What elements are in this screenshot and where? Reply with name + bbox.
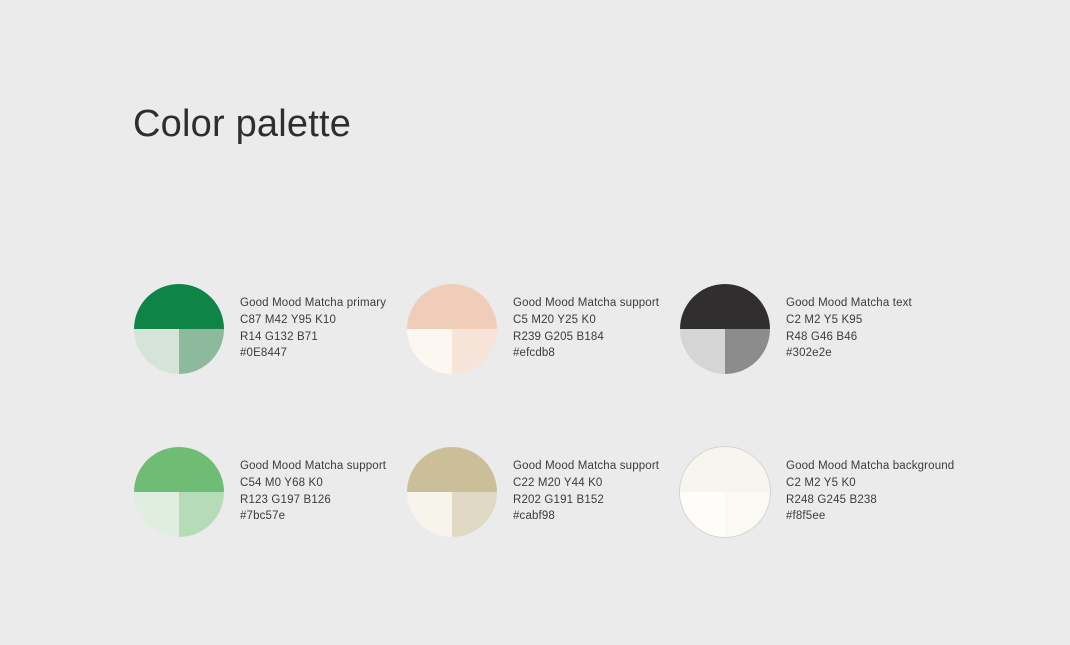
swatch-name: Good Mood Matcha primary xyxy=(240,295,386,312)
disc-bottom-left-quarter xyxy=(680,492,725,537)
swatch-hex: #0E8447 xyxy=(240,345,386,362)
disc-bottom-left-quarter xyxy=(134,492,179,537)
swatch-meta: Good Mood Matcha background C2 M2 Y5 K0 … xyxy=(786,446,954,525)
swatch-hex: #7bc57e xyxy=(240,508,386,525)
color-disc-wrap xyxy=(406,283,498,375)
swatch-item[interactable]: Good Mood Matcha primary C87 M42 Y95 K10… xyxy=(133,283,406,375)
disc-top-half xyxy=(680,447,770,492)
disc-top-half xyxy=(407,284,497,329)
swatch-rgb: R248 G245 B238 xyxy=(786,492,954,509)
color-palette-page: Color palette Good Mood Matcha primary C… xyxy=(0,0,1070,645)
disc-bottom-right-quarter xyxy=(179,329,224,374)
swatch-name: Good Mood Matcha background xyxy=(786,458,954,475)
swatch-item[interactable]: Good Mood Matcha support C22 M20 Y44 K0 … xyxy=(406,446,679,538)
disc-top-half xyxy=(407,447,497,492)
swatch-item[interactable]: Good Mood Matcha support C5 M20 Y25 K0 R… xyxy=(406,283,679,375)
disc-bottom-right-quarter xyxy=(725,329,770,374)
page-title: Color palette xyxy=(133,102,351,148)
color-disc-wrap xyxy=(133,446,225,538)
swatch-rgb: R123 G197 B126 xyxy=(240,492,386,509)
swatch-rgb: R202 G191 B152 xyxy=(513,492,659,509)
swatch-row: Good Mood Matcha primary C87 M42 Y95 K10… xyxy=(133,283,973,375)
swatch-hex: #efcdb8 xyxy=(513,345,659,362)
color-disc-wrap xyxy=(679,446,771,538)
color-disc-icon xyxy=(407,447,497,537)
swatch-name: Good Mood Matcha text xyxy=(786,295,912,312)
swatch-rgb: R14 G132 B71 xyxy=(240,329,386,346)
swatch-cmyk: C5 M20 Y25 K0 xyxy=(513,312,659,329)
disc-top-half xyxy=(134,447,224,492)
swatch-hex: #cabf98 xyxy=(513,508,659,525)
disc-bottom-left-quarter xyxy=(680,329,725,374)
color-disc-wrap xyxy=(679,283,771,375)
color-disc-icon xyxy=(679,446,771,538)
color-disc-icon xyxy=(134,447,224,537)
swatch-hex: #f8f5ee xyxy=(786,508,954,525)
disc-bottom-left-quarter xyxy=(407,492,452,537)
swatch-rgb: R239 G205 B184 xyxy=(513,329,659,346)
swatch-rgb: R48 G46 B46 xyxy=(786,329,912,346)
swatch-item[interactable]: Good Mood Matcha support C54 M0 Y68 K0 R… xyxy=(133,446,406,538)
swatch-grid: Good Mood Matcha primary C87 M42 Y95 K10… xyxy=(133,283,973,538)
swatch-row: Good Mood Matcha support C54 M0 Y68 K0 R… xyxy=(133,446,973,538)
swatch-name: Good Mood Matcha support xyxy=(513,458,659,475)
swatch-meta: Good Mood Matcha primary C87 M42 Y95 K10… xyxy=(240,283,386,362)
swatch-cmyk: C2 M2 Y5 K0 xyxy=(786,475,954,492)
color-disc-wrap xyxy=(406,446,498,538)
disc-bottom-left-quarter xyxy=(407,329,452,374)
disc-bottom-right-quarter xyxy=(452,492,497,537)
swatch-hex: #302e2e xyxy=(786,345,912,362)
color-disc-wrap xyxy=(133,283,225,375)
disc-bottom-right-quarter xyxy=(452,329,497,374)
swatch-meta: Good Mood Matcha support C54 M0 Y68 K0 R… xyxy=(240,446,386,525)
swatch-cmyk: C22 M20 Y44 K0 xyxy=(513,475,659,492)
swatch-item[interactable]: Good Mood Matcha text C2 M2 Y5 K95 R48 G… xyxy=(679,283,952,375)
disc-bottom-right-quarter xyxy=(179,492,224,537)
color-disc-icon xyxy=(680,284,770,374)
swatch-meta: Good Mood Matcha support C22 M20 Y44 K0 … xyxy=(513,446,659,525)
disc-top-half xyxy=(680,284,770,329)
swatch-cmyk: C54 M0 Y68 K0 xyxy=(240,475,386,492)
disc-bottom-left-quarter xyxy=(134,329,179,374)
swatch-name: Good Mood Matcha support xyxy=(513,295,659,312)
swatch-meta: Good Mood Matcha text C2 M2 Y5 K95 R48 G… xyxy=(786,283,912,362)
swatch-item[interactable]: Good Mood Matcha background C2 M2 Y5 K0 … xyxy=(679,446,952,538)
swatch-cmyk: C2 M2 Y5 K95 xyxy=(786,312,912,329)
disc-bottom-right-quarter xyxy=(725,492,770,537)
color-disc-icon xyxy=(134,284,224,374)
disc-top-half xyxy=(134,284,224,329)
swatch-meta: Good Mood Matcha support C5 M20 Y25 K0 R… xyxy=(513,283,659,362)
color-disc-icon xyxy=(407,284,497,374)
swatch-name: Good Mood Matcha support xyxy=(240,458,386,475)
swatch-cmyk: C87 M42 Y95 K10 xyxy=(240,312,386,329)
